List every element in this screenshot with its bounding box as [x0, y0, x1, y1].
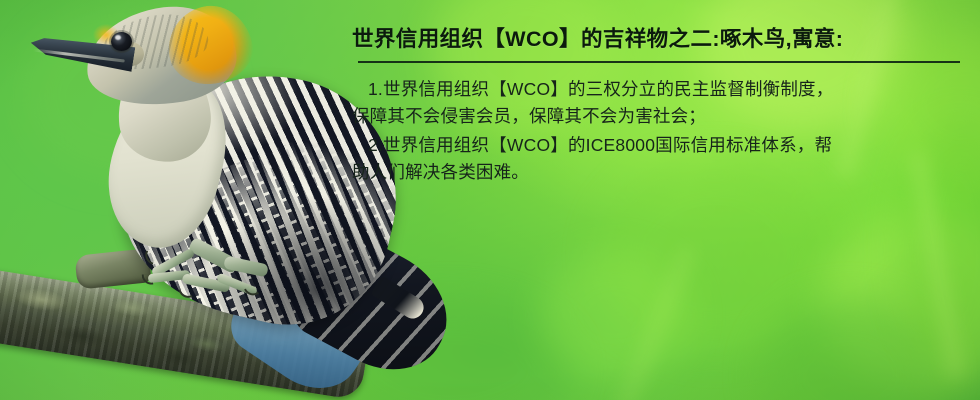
mascot-meaning-list: 1.世界信用组织【WCO】的三权分立的民主监督制衡制度， 保障其不会侵害会员，保… — [352, 76, 968, 186]
list-item-line: 2.世界信用组织【WCO】的ICE8000国际信用标准体系，帮 — [352, 132, 968, 159]
bird-eye-highlight — [115, 35, 121, 40]
bird-eye — [111, 32, 132, 51]
list-item-line: 助人们解决各类困难。 — [352, 159, 968, 186]
wco-mascot-banner: 世界信用组织【WCO】的吉祥物之二:啄木鸟,寓意: 1.世界信用组织【WCO】的… — [0, 0, 980, 400]
list-item: 2.世界信用组织【WCO】的ICE8000国际信用标准体系，帮 助人们解决各类困… — [352, 132, 968, 186]
banner-text-panel: 世界信用组织【WCO】的吉祥物之二:啄木鸟,寓意: 1.世界信用组织【WCO】的… — [352, 24, 968, 188]
list-item: 1.世界信用组织【WCO】的三权分立的民主监督制衡制度， 保障其不会侵害会员，保… — [352, 76, 968, 130]
list-item-line: 保障其不会侵害会员，保障其不会为害社会； — [352, 103, 968, 130]
headline-divider — [358, 61, 960, 63]
banner-headline: 世界信用组织【WCO】的吉祥物之二:啄木鸟,寓意: — [352, 24, 968, 54]
list-item-line: 1.世界信用组织【WCO】的三权分立的民主监督制衡制度， — [352, 76, 968, 103]
